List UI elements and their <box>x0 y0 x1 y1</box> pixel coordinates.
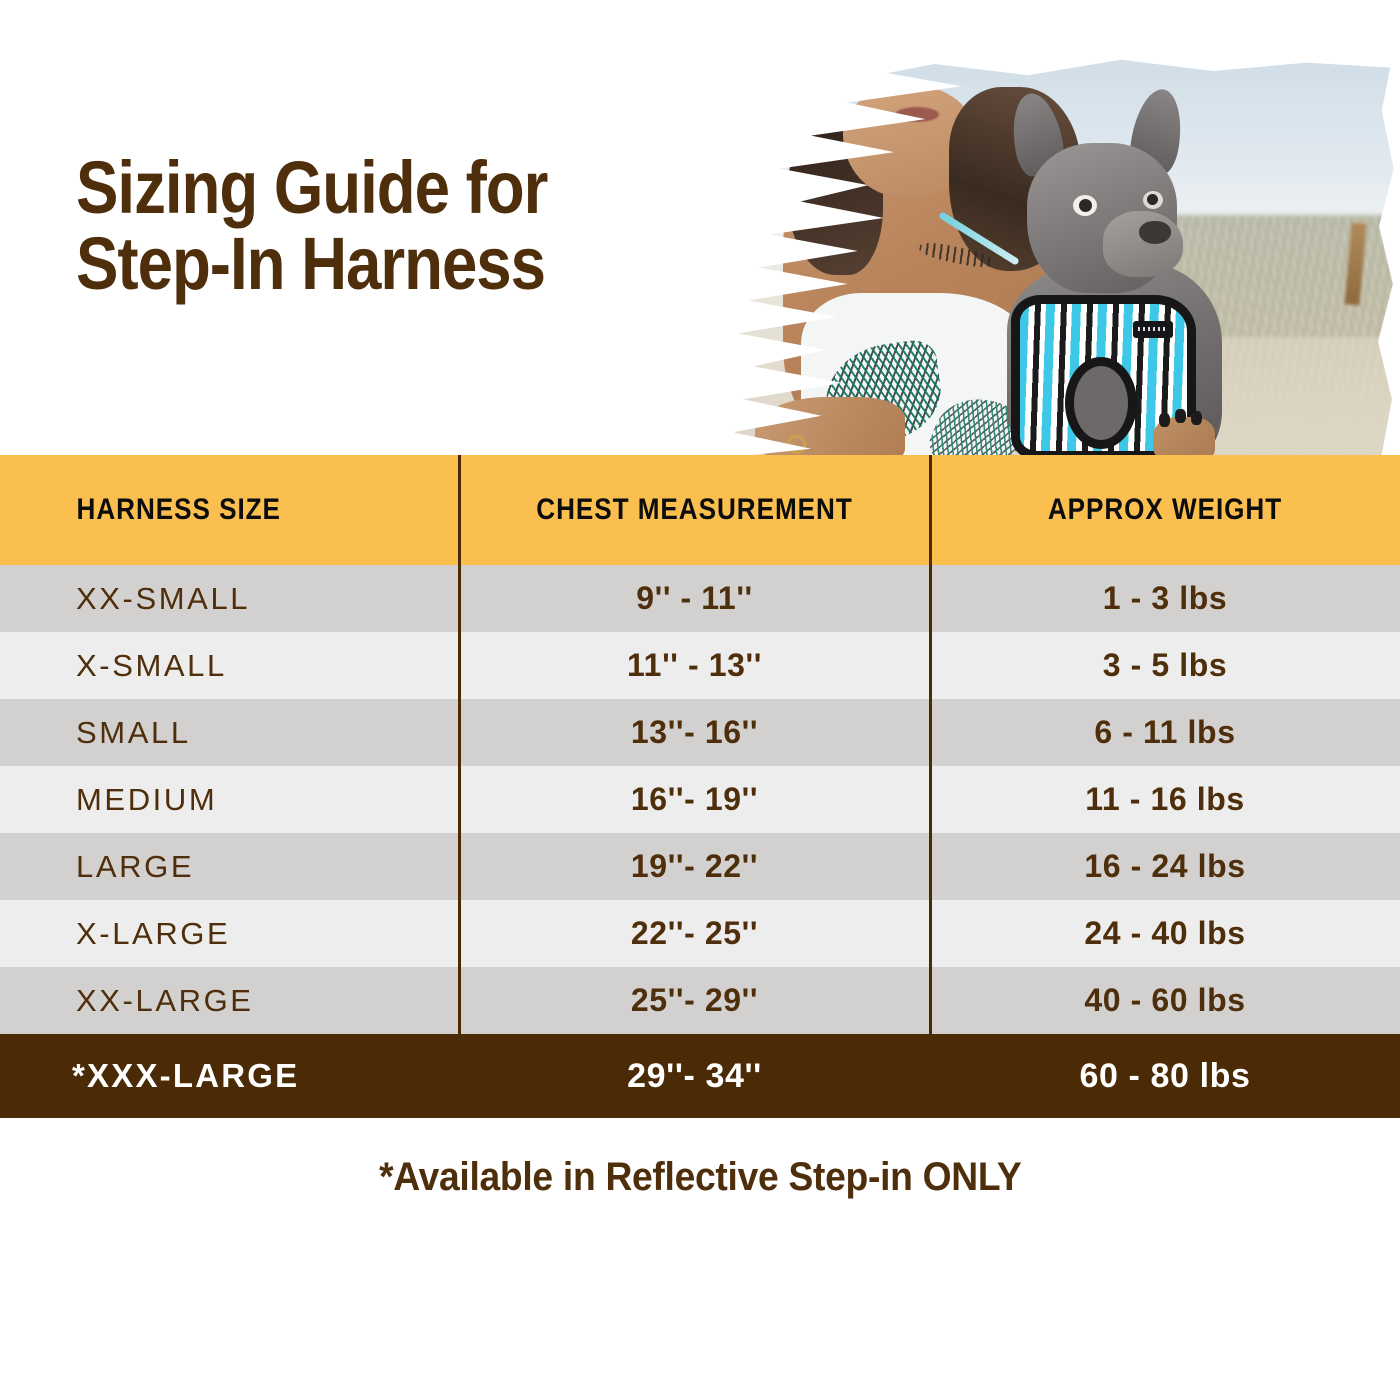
fingernail <box>1191 411 1202 425</box>
table-header-cell-chest: CHEST MEASUREMENT <box>459 493 930 527</box>
harness-brand-tag <box>1133 321 1173 338</box>
table-row: X-SMALL 11'' - 13'' 3 - 5 lbs <box>0 632 1400 699</box>
cell-weight: 1 - 3 lbs <box>930 580 1400 617</box>
cell-chest: 11'' - 13'' <box>459 647 930 684</box>
fingernail <box>1175 409 1186 423</box>
fingernail <box>1159 413 1170 427</box>
cell-size: MEDIUM <box>0 782 459 818</box>
cell-chest: 19''- 22'' <box>459 848 930 885</box>
cell-size: LARGE <box>0 849 459 885</box>
table-row: LARGE 19''- 22'' 16 - 24 lbs <box>0 833 1400 900</box>
sizing-table: HARNESS SIZE CHEST MEASUREMENT APPROX WE… <box>0 455 1400 1118</box>
cell-weight: 16 - 24 lbs <box>930 848 1400 885</box>
footnote-text: *Available in Reflective Step-in ONLY <box>379 1155 1021 1200</box>
cell-weight: 11 - 16 lbs <box>930 781 1400 818</box>
header-label-harness-size: HARNESS SIZE <box>0 493 399 527</box>
cell-chest: 13''- 16'' <box>459 714 930 751</box>
cell-weight: 24 - 40 lbs <box>930 915 1400 952</box>
hero-section: Sizing Guide for Step-In Harness <box>0 0 1400 455</box>
dog-nose <box>1139 221 1171 244</box>
cell-chest: 16''- 19'' <box>459 781 930 818</box>
cell-size: XX-LARGE <box>0 983 459 1019</box>
cell-size: *XXX-LARGE <box>0 1057 459 1095</box>
table-row: MEDIUM 16''- 19'' 11 - 16 lbs <box>0 766 1400 833</box>
cell-weight: 40 - 60 lbs <box>930 982 1400 1019</box>
cell-size: SMALL <box>0 715 459 751</box>
table-row: XX-SMALL 9'' - 11'' 1 - 3 lbs <box>0 565 1400 632</box>
table-row: XX-LARGE 25''- 29'' 40 - 60 lbs <box>0 967 1400 1034</box>
cell-weight: 6 - 11 lbs <box>930 714 1400 751</box>
table-header-row: HARNESS SIZE CHEST MEASUREMENT APPROX WE… <box>0 455 1400 565</box>
cell-chest: 9'' - 11'' <box>459 580 930 617</box>
table-row-highlighted: *XXX-LARGE 29''- 34'' 60 - 80 lbs <box>0 1034 1400 1118</box>
hero-photo <box>735 45 1400 455</box>
cell-size: X-LARGE <box>0 916 459 952</box>
footnote: *Available in Reflective Step-in ONLY <box>0 1155 1400 1200</box>
cell-chest: 29''- 34'' <box>459 1057 930 1096</box>
table-row: SMALL 13''- 16'' 6 - 11 lbs <box>0 699 1400 766</box>
header-label-approx-weight: APPROX WEIGHT <box>961 493 1370 527</box>
cell-chest: 25''- 29'' <box>459 982 930 1019</box>
cell-chest: 22''- 25'' <box>459 915 930 952</box>
header-label-chest-measurement: CHEST MEASUREMENT <box>490 493 900 527</box>
table-header-cell-size: HARNESS SIZE <box>0 493 459 527</box>
cell-size: XX-SMALL <box>0 581 459 617</box>
harness-leg-opening <box>1065 357 1137 449</box>
cell-weight: 60 - 80 lbs <box>930 1057 1400 1096</box>
cell-size: X-SMALL <box>0 648 459 684</box>
page-title: Sizing Guide for Step-In Harness <box>76 150 661 302</box>
cell-weight: 3 - 5 lbs <box>930 647 1400 684</box>
table-header-cell-weight: APPROX WEIGHT <box>930 493 1400 527</box>
dog-eye-right <box>1143 191 1163 209</box>
table-row: X-LARGE 22''- 25'' 24 - 40 lbs <box>0 900 1400 967</box>
dog-muzzle <box>1103 211 1183 277</box>
dog-eye-left <box>1073 195 1097 216</box>
